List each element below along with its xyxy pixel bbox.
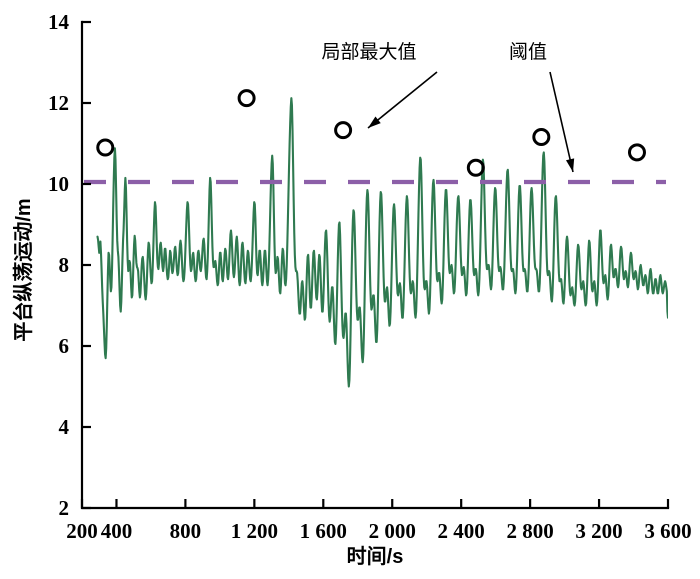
x-tick-label-2000: 2 000 [369,519,416,543]
y-tick-label-12: 12 [48,91,69,115]
x-tick-label-3200: 3 200 [575,519,622,543]
x-tick-label-200: 200 [66,519,98,543]
x-tick-label-1600: 1 600 [300,519,347,543]
annotation-label-threshold: 阈值 [509,41,547,63]
chart-figure: 2468101214 2004008001 2001 6002 0002 400… [0,0,700,579]
x-tick-label-1200: 1 200 [231,519,278,543]
y-tick-label-2: 2 [59,496,70,520]
y-tick-label-10: 10 [48,172,69,196]
y-tick-label-6: 6 [59,334,70,358]
y-tick-label-8: 8 [59,253,70,277]
x-tick-label-2800: 2 800 [506,519,553,543]
platform-surge-motion-chart: 2468101214 2004008001 2001 6002 0002 400… [0,0,700,579]
annotation-label-local-maximum: 局部最大值 [321,41,416,63]
y-axis-title: 平台纵荡运动/m [11,198,35,341]
x-tick-label-3600: 3 600 [644,519,691,543]
x-tick-label-800: 800 [170,519,202,543]
x-tick-label-400: 400 [101,519,133,543]
x-tick-label-2400: 2 400 [438,519,485,543]
x-axis-title: 时间/s [347,545,404,568]
y-tick-label-14: 14 [48,10,70,34]
y-tick-label-4: 4 [59,415,70,439]
